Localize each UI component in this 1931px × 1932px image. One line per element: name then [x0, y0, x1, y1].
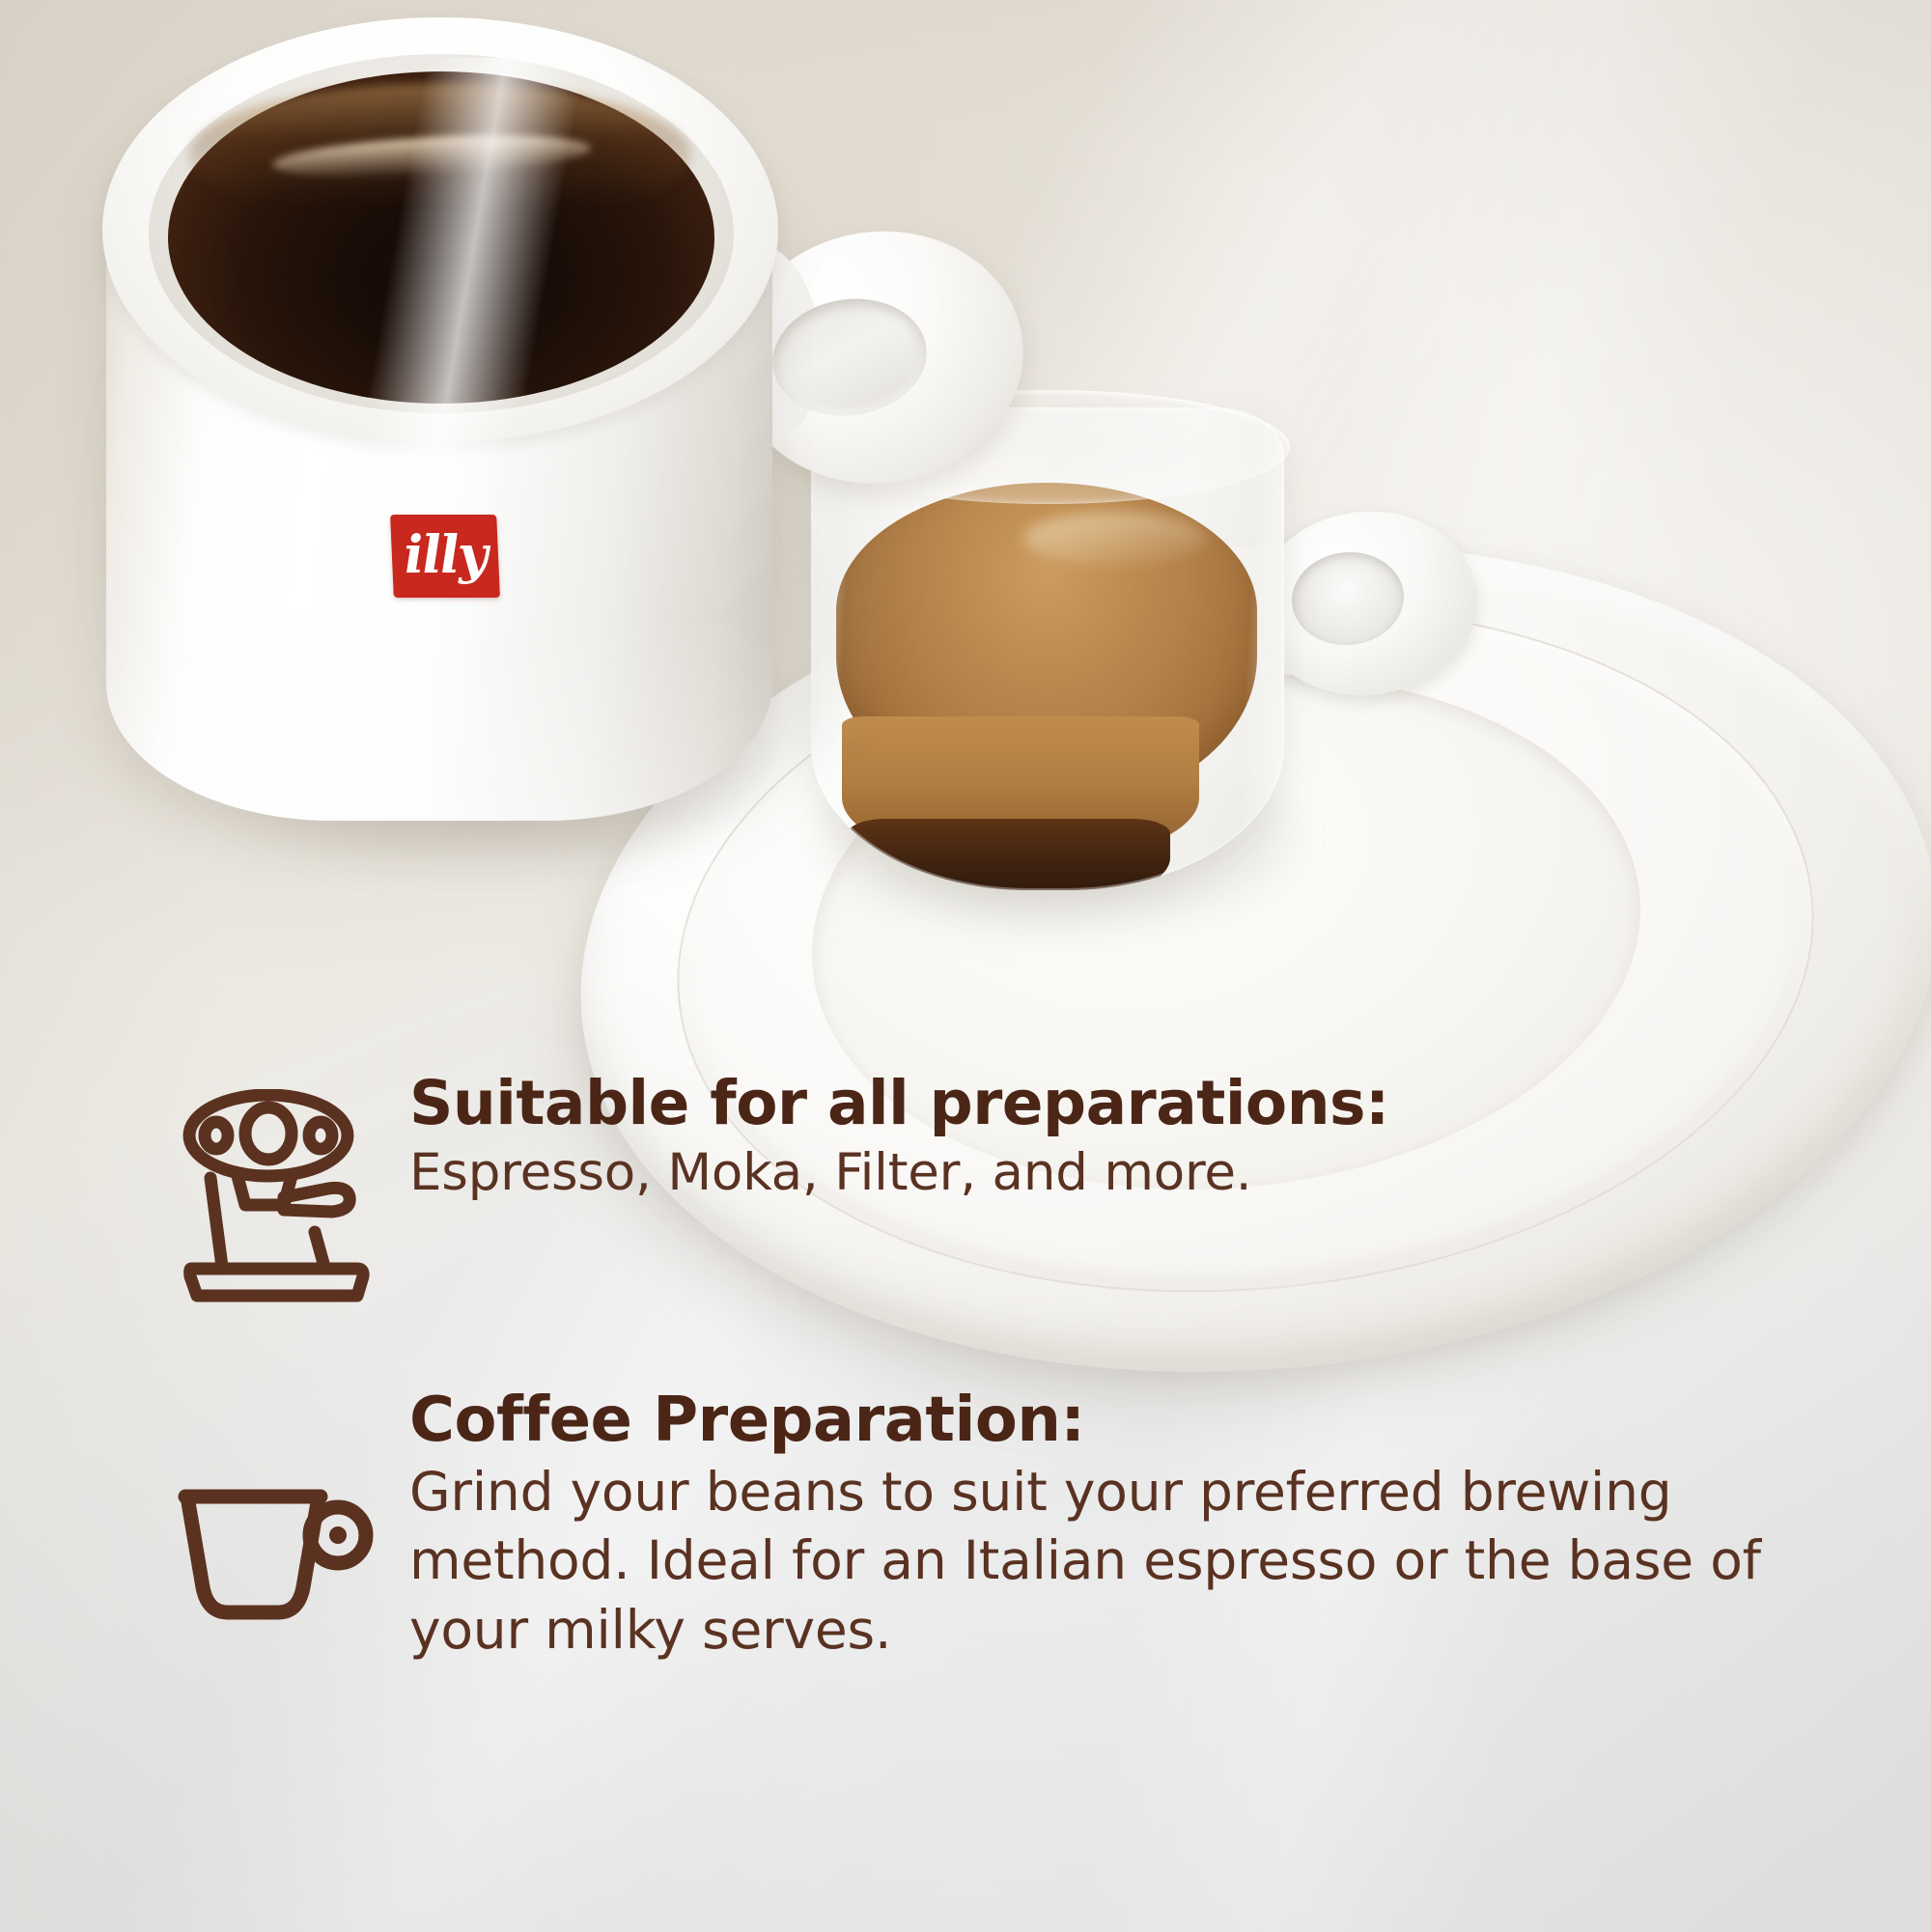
espresso-machine-icon	[172, 1072, 384, 1303]
feature-item-coffee-preparation: Coffee Preparation: Grind your beans to …	[0, 1303, 1931, 1665]
coffee-cup-icon	[172, 1388, 384, 1665]
feature-description: Espresso, Moka, Filter, and more.	[409, 1142, 1858, 1205]
feature-description: Grind your beans to suit your preferred …	[409, 1458, 1858, 1666]
espresso-machine-icon-svg	[172, 1089, 377, 1303]
product-info-card: illy	[0, 0, 1931, 1932]
feature-title: Suitable for all preparations:	[409, 1072, 1931, 1136]
feature-title: Coffee Preparation:	[409, 1388, 1931, 1454]
feature-item-preparations: Suitable for all preparations: Espresso,…	[0, 1072, 1931, 1303]
illy-logo: illy	[390, 515, 500, 598]
feature-text-block: Coffee Preparation: Grind your beans to …	[384, 1388, 1931, 1665]
illy-wordmark: illy	[391, 528, 499, 580]
feature-text-block: Suitable for all preparations: Espresso,…	[384, 1072, 1931, 1204]
coffee-cup-icon-svg	[172, 1471, 377, 1665]
mug-sheen	[106, 58, 772, 821]
feature-list: Suitable for all preparations: Espresso,…	[0, 1072, 1931, 1665]
